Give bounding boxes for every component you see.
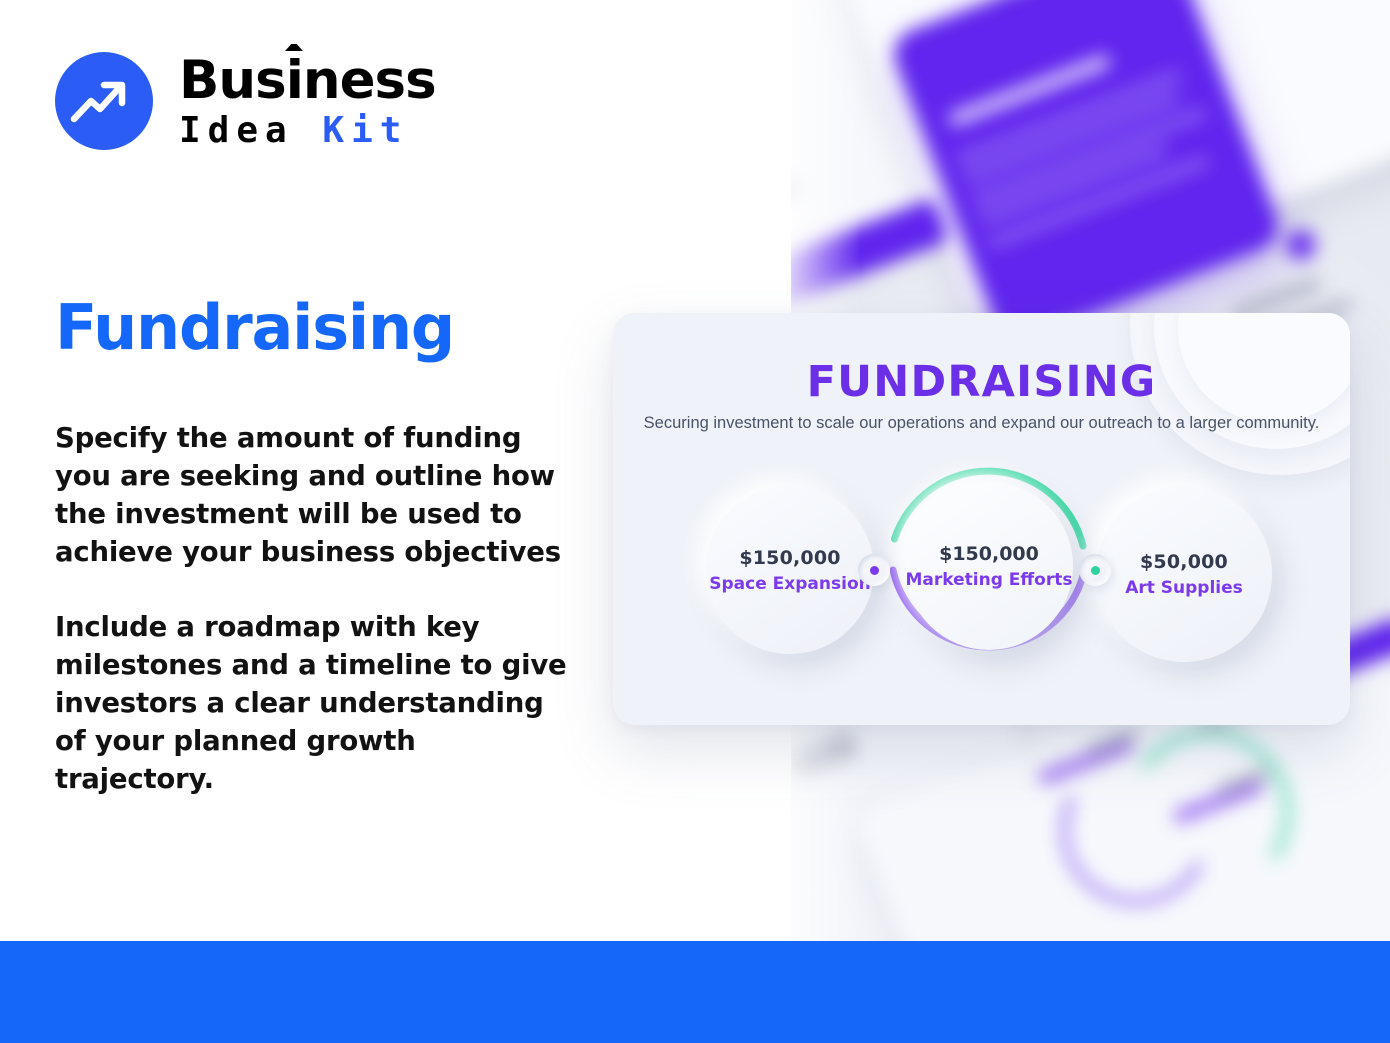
- brand-name-primary: Business: [179, 54, 436, 107]
- funding-circle-center-group: $150,000 Marketing Efforts: [874, 440, 1104, 695]
- funding-amount: $150,000: [939, 543, 1039, 565]
- circumflex-accent-icon: i: [286, 50, 303, 111]
- brand-idea-text: Idea: [179, 110, 294, 151]
- funding-label: Marketing Efforts: [906, 570, 1073, 590]
- funding-amount: $150,000: [739, 547, 840, 569]
- funding-circle-center[interactable]: $150,000 Marketing Efforts: [905, 482, 1073, 650]
- footer-bar: [0, 941, 1390, 1043]
- growth-arrow-chart-icon: [55, 52, 153, 150]
- connector-dot-green: [1091, 566, 1100, 575]
- card-title: FUNDRAISING: [613, 357, 1350, 407]
- card-subtitle: Securing investment to scale our operati…: [613, 413, 1350, 435]
- funding-circle-right[interactable]: $50,000 Art Supplies: [1096, 486, 1272, 662]
- page-title: Fundraising: [55, 295, 454, 360]
- connector-dot-purple: [870, 566, 879, 575]
- slide-root: Business Idea Kit Fundraising Specify th…: [0, 0, 1390, 1043]
- body-paragraph-2: Include a roadmap with key milestones an…: [55, 609, 575, 799]
- body-paragraph-1: Specify the amount of funding you are se…: [55, 420, 575, 572]
- funding-allocation-diagram: $150,000 Space Expansion: [613, 468, 1350, 713]
- funding-circle-left[interactable]: $150,000 Space Expansion: [706, 486, 874, 654]
- fundraising-card: FUNDRAISING Securing investment to scale…: [613, 313, 1350, 725]
- connector-node-right[interactable]: [1079, 554, 1111, 586]
- brand-logo: Business Idea Kit: [55, 52, 436, 150]
- funding-label: Space Expansion: [709, 574, 870, 594]
- brand-kit-text: Kit: [322, 110, 408, 151]
- funding-label: Art Supplies: [1125, 578, 1243, 598]
- brand-name-secondary: Idea Kit: [179, 113, 436, 149]
- connector-node-left[interactable]: [858, 554, 890, 586]
- funding-amount: $50,000: [1140, 551, 1228, 573]
